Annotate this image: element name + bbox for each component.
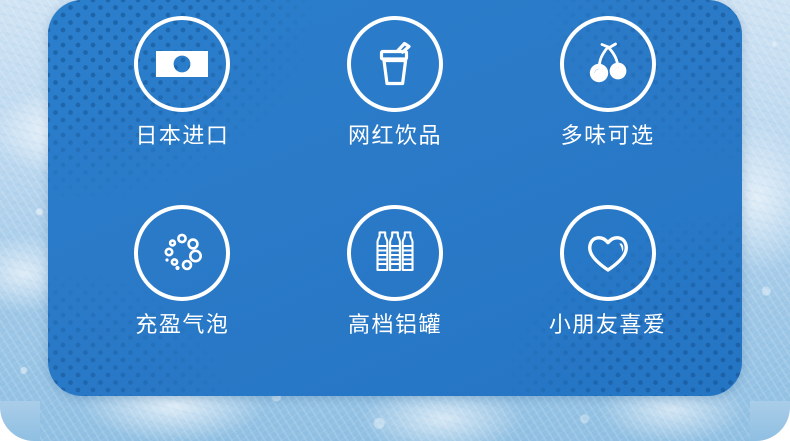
- feature-label: 充盈气泡: [135, 314, 229, 336]
- rich-bubbles-icon-ring: [134, 205, 230, 301]
- feature-item-japan-import[interactable]: 日本进口: [76, 16, 289, 199]
- feature-item-kids-favorite[interactable]: 小朋友喜爱: [501, 199, 714, 382]
- feature-item-rich-bubbles[interactable]: 充盈气泡: [76, 199, 289, 382]
- heart-icon: [579, 224, 637, 282]
- cherries-icon: [579, 35, 637, 93]
- feature-label: 多味可选: [561, 125, 655, 147]
- bottom-left-corner-mask: [0, 401, 40, 441]
- feature-label: 高档铝罐: [348, 314, 442, 336]
- feature-item-popular-drink[interactable]: 网红饮品: [289, 16, 502, 199]
- feature-item-multi-flavor[interactable]: 多味可选: [501, 16, 714, 199]
- bubbles-icon: [153, 224, 211, 282]
- japan-import-icon-ring: [134, 16, 230, 112]
- feature-panel: 日本进口 网红饮品: [48, 0, 742, 396]
- bottom-right-corner-mask: [750, 401, 790, 441]
- feature-item-premium-can[interactable]: 高档铝罐: [289, 199, 502, 382]
- popular-drink-icon-ring: [347, 16, 443, 112]
- feature-label: 小朋友喜爱: [549, 314, 667, 336]
- multi-flavor-icon-ring: [560, 16, 656, 112]
- feature-label: 日本进口: [135, 125, 229, 147]
- drink-cup-icon: [366, 35, 424, 93]
- feature-label: 网红饮品: [348, 125, 442, 147]
- japan-flag-icon: [152, 34, 212, 94]
- product-feature-banner: 日本进口 网红饮品: [0, 0, 790, 441]
- kids-favorite-icon-ring: [560, 205, 656, 301]
- premium-can-icon-ring: [347, 205, 443, 301]
- bottles-icon: [366, 224, 424, 282]
- feature-grid: 日本进口 网红饮品: [48, 0, 742, 396]
